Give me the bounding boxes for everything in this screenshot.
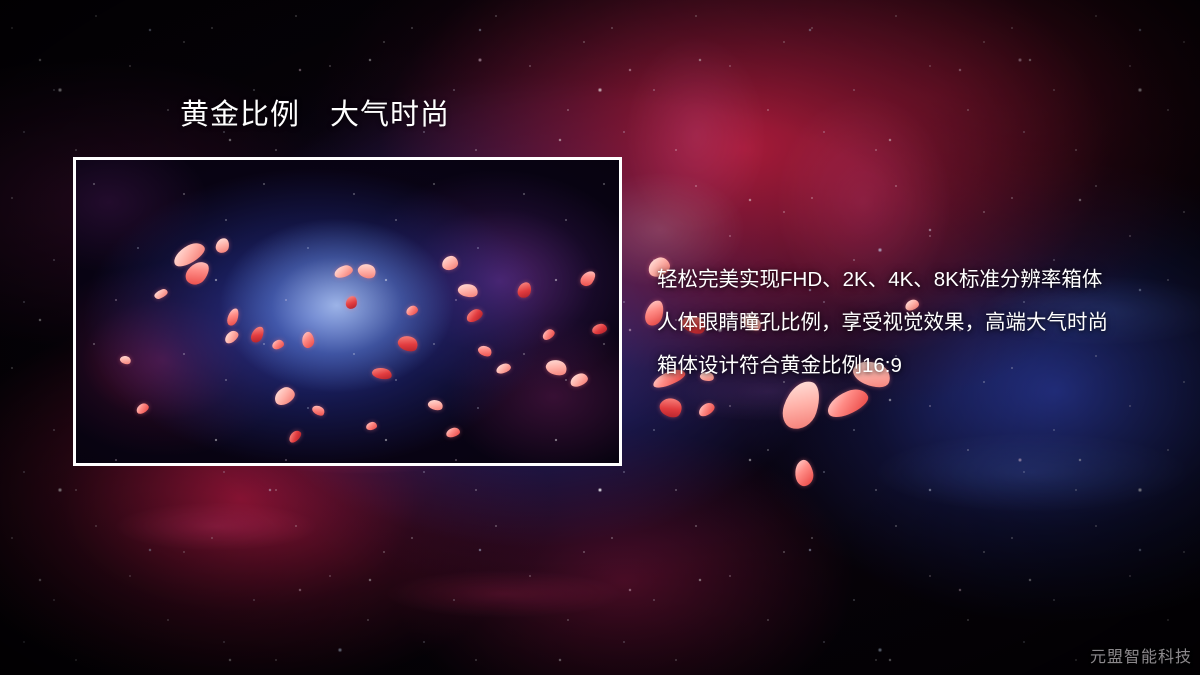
flower-petal xyxy=(272,384,298,407)
flower-petal xyxy=(476,343,493,359)
flower-petal xyxy=(578,268,598,289)
flower-petal xyxy=(396,332,421,354)
flower-petal xyxy=(371,366,393,382)
feature-line-3: 箱体设计符合黄金比例16:9 xyxy=(657,344,1177,387)
flower-petal xyxy=(215,237,230,254)
flower-petal xyxy=(333,264,354,280)
page-title: 黄金比例 大气时尚 xyxy=(180,101,450,130)
flower-petal xyxy=(301,331,316,349)
flower-petal xyxy=(696,401,716,419)
flower-petal xyxy=(427,398,445,413)
flower-petal xyxy=(135,402,151,416)
framed-image-panel xyxy=(73,157,622,466)
flower-petal xyxy=(119,354,132,366)
feature-line-1: 轻松完美实现FHD、2K、4K、8K标准分辨率箱体 xyxy=(657,258,1177,301)
panel-petals xyxy=(76,160,619,463)
flower-petal xyxy=(544,357,569,379)
flower-petal xyxy=(445,427,461,439)
flower-petal xyxy=(569,372,590,389)
flower-petal xyxy=(441,255,458,271)
flower-petal xyxy=(464,307,484,324)
presentation-slide: 黄金比例 大气时尚 轻松完美实现FHD、2K、4K、8K标准分辨率箱体 人体眼睛… xyxy=(0,0,1200,675)
flower-petal xyxy=(516,281,532,299)
flower-petal xyxy=(591,323,607,335)
flower-petal xyxy=(823,385,871,422)
feature-line-2: 人体眼睛瞳孔比例，享受视觉效果，高端大气时尚 xyxy=(657,301,1177,344)
flower-petal xyxy=(365,421,377,430)
flower-petal xyxy=(356,261,378,282)
flower-petal xyxy=(153,288,169,300)
flower-petal xyxy=(495,362,512,375)
flower-petal xyxy=(405,304,419,316)
flower-petal xyxy=(249,325,266,345)
flower-petal xyxy=(222,329,240,346)
flower-petal xyxy=(226,307,241,327)
flower-petal xyxy=(541,327,557,341)
flower-petal xyxy=(657,393,686,421)
feature-description: 轻松完美实现FHD、2K、4K、8K标准分辨率箱体 人体眼睛瞳孔比例，享受视觉效… xyxy=(657,258,1177,387)
flower-petal xyxy=(287,429,304,445)
flower-petal xyxy=(792,458,815,487)
flower-petal xyxy=(345,295,358,309)
brand-watermark: 元盟智能科技 xyxy=(1090,643,1192,667)
flower-petal xyxy=(271,339,285,351)
flower-petal xyxy=(457,281,480,299)
flower-petal xyxy=(311,403,327,418)
